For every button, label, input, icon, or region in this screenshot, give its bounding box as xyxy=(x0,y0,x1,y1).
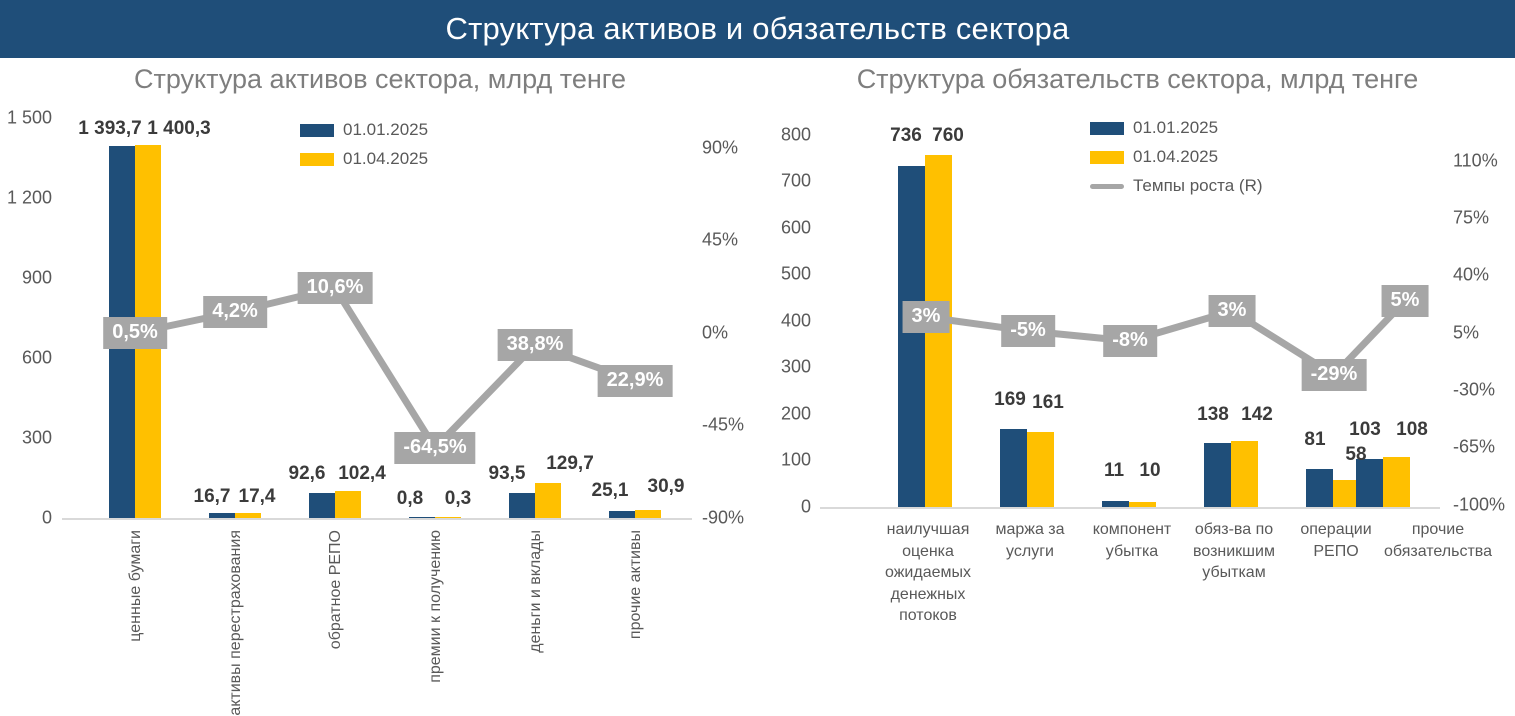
category-label: операции РЕПО xyxy=(1289,519,1384,562)
growth-label: 22,9% xyxy=(598,365,673,397)
y-tick: 100 xyxy=(765,450,811,471)
category-label: ценные бумаги xyxy=(127,530,145,642)
y2-tick: -100% xyxy=(1453,495,1505,516)
category-label: прочие активы xyxy=(627,530,645,639)
category-label: деньги и вклады xyxy=(527,530,545,653)
category-label: премии к получению xyxy=(427,530,445,683)
assets-chart-title: Структура активов сектора, млрд тенге xyxy=(0,64,760,95)
y-tick: 0 xyxy=(765,497,811,518)
y-tick: 1 500 xyxy=(0,108,52,129)
liabilities-y-axis-left: 800 700 600 500 400 300 200 100 0 xyxy=(765,113,811,523)
y-tick: 500 xyxy=(765,264,811,285)
assets-baseline xyxy=(62,518,692,520)
liabilities-chart-panel: Структура обязательств сектора, млрд тен… xyxy=(760,58,1515,652)
y2-tick: 75% xyxy=(1453,208,1489,229)
y2-tick: -90% xyxy=(702,508,744,529)
y-tick: 600 xyxy=(0,348,52,369)
y2-tick: 0% xyxy=(702,323,728,344)
growth-label: -5% xyxy=(1001,315,1055,347)
y-tick: 300 xyxy=(765,357,811,378)
assets-plot-area: 1 500 1 200 900 600 300 0 90% 45% 0% -45… xyxy=(62,118,692,518)
category-label: наилучшая оценка ожидаемых денежных пото… xyxy=(873,519,983,627)
y2-tick: 40% xyxy=(1453,265,1489,286)
category-label: маржа за услуги xyxy=(980,519,1080,562)
growth-label: 10,6% xyxy=(298,272,373,304)
growth-label: 5% xyxy=(1382,285,1429,317)
assets-y-axis-right: 90% 45% 0% -45% -90% xyxy=(702,118,762,518)
y-tick: 800 xyxy=(765,125,811,146)
y-tick: 200 xyxy=(765,404,811,425)
growth-label: -8% xyxy=(1103,325,1157,357)
y-tick: 0 xyxy=(0,508,52,529)
category-label: активы перестрахования xyxy=(227,530,245,716)
y-tick: 300 xyxy=(0,428,52,449)
y2-tick: 90% xyxy=(702,138,738,159)
y2-tick: -30% xyxy=(1453,380,1495,401)
page-title: Структура активов и обязательств сектора xyxy=(446,11,1070,47)
growth-label: 3% xyxy=(1209,295,1256,327)
category-label: компонент убытка xyxy=(1082,519,1182,562)
liabilities-y-axis-right: 110% 75% 40% 5% -30% -65% -100% xyxy=(1453,113,1515,523)
growth-label: 3% xyxy=(903,301,950,333)
growth-label: -64,5% xyxy=(394,432,475,464)
y-tick: 400 xyxy=(765,311,811,332)
y-tick: 900 xyxy=(0,268,52,289)
y2-tick: 45% xyxy=(702,230,738,251)
category-label: прочие обязательства xyxy=(1379,519,1497,562)
y-tick: 700 xyxy=(765,171,811,192)
category-label: обратное РЕПО xyxy=(327,530,345,649)
liabilities-chart-title: Структура обязательств сектора, млрд тен… xyxy=(760,64,1515,95)
y2-tick: 5% xyxy=(1453,323,1479,344)
growth-label: -29% xyxy=(1302,359,1367,391)
growth-label: 38,8% xyxy=(498,329,573,361)
liabilities-plot-area: 800 700 600 500 400 300 200 100 0 110% 7… xyxy=(820,113,1440,523)
growth-label: 4,2% xyxy=(203,296,267,328)
category-label: обяз-ва по возникшим убыткам xyxy=(1178,519,1290,584)
y-tick: 1 200 xyxy=(0,188,52,209)
y-tick: 600 xyxy=(765,218,811,239)
y2-tick: 110% xyxy=(1453,151,1498,172)
growth-label: 0,5% xyxy=(103,317,167,349)
assets-y-axis-left: 1 500 1 200 900 600 300 0 xyxy=(0,118,52,518)
y2-tick: -65% xyxy=(1453,437,1495,458)
assets-chart-panel: Структура активов сектора, млрд тенге 01… xyxy=(0,58,760,652)
page-header: Структура активов и обязательств сектора xyxy=(0,0,1515,58)
y2-tick: -45% xyxy=(702,415,744,436)
